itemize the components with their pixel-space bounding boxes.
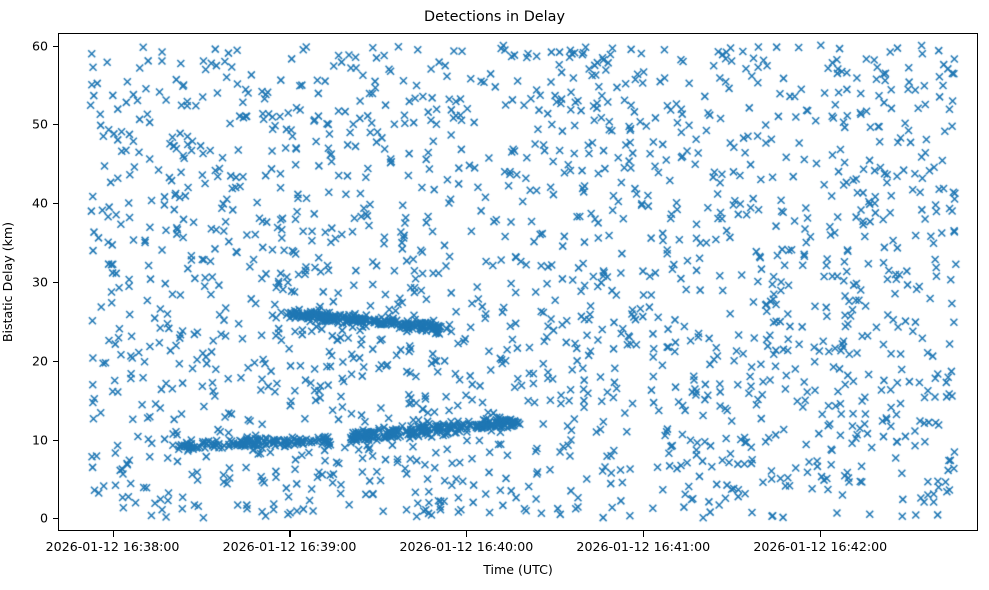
y-tick-mark xyxy=(53,46,59,47)
plot-area xyxy=(58,33,978,531)
y-axis-label: Bistatic Delay (km) xyxy=(0,33,18,531)
x-tick-mark xyxy=(289,531,290,537)
y-tick-mark xyxy=(53,282,59,283)
x-tick-label: 2026-01-12 16:42:00 xyxy=(753,539,887,554)
y-tick-mark xyxy=(53,203,59,204)
y-tick-mark xyxy=(53,440,59,441)
scatter-plot-canvas xyxy=(59,34,978,531)
x-tick-label: 2026-01-12 16:41:00 xyxy=(576,539,710,554)
x-tick-label: 2026-01-12 16:39:00 xyxy=(223,539,357,554)
x-axis-label: Time (UTC) xyxy=(58,562,978,577)
chart-title: Detections in Delay xyxy=(0,9,989,25)
y-tick-mark xyxy=(53,124,59,125)
x-axis-tick-labels: 2026-01-12 16:38:002026-01-12 16:39:0020… xyxy=(0,531,989,561)
x-tick-label: 2026-01-12 16:40:00 xyxy=(400,539,534,554)
x-tick-label: 2026-01-12 16:38:00 xyxy=(46,539,180,554)
figure-canvas: Detections in Delay 0102030405060 2026-0… xyxy=(0,0,989,590)
x-tick-mark xyxy=(113,531,114,537)
x-tick-mark xyxy=(466,531,467,537)
x-tick-mark xyxy=(643,531,644,537)
y-tick-mark xyxy=(53,361,59,362)
y-tick-mark xyxy=(53,518,59,519)
x-tick-mark xyxy=(820,531,821,537)
